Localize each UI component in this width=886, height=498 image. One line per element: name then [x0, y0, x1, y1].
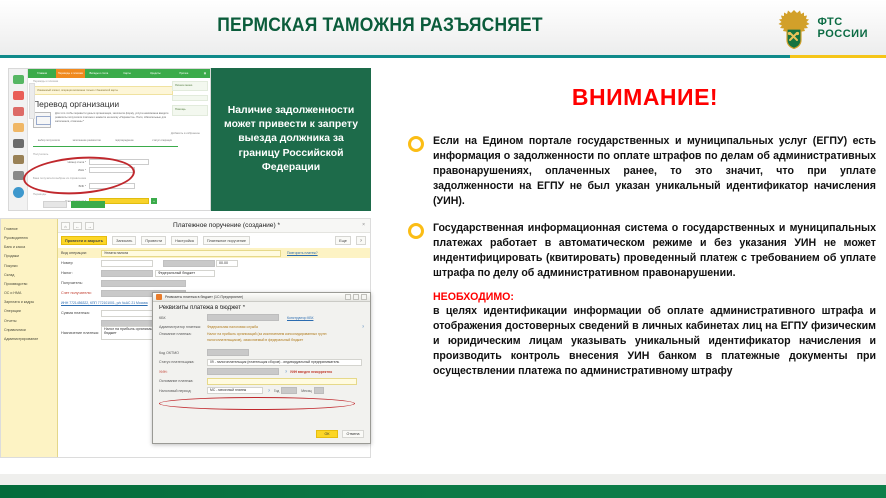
field-label: Описание платежа:: [159, 332, 207, 336]
onec-sidebar[interactable]: Главное Руководителю Банк и касса Продаж…: [1, 219, 58, 458]
recipient-input[interactable]: [101, 280, 186, 287]
operation-type-select[interactable]: Уплата налога: [101, 250, 281, 257]
payer-status-select[interactable]: 09 - налогоплательщик (плательщик сборов…: [207, 359, 362, 366]
russian-coat-of-arms-icon: [776, 9, 812, 49]
icon-rail-item: [13, 139, 24, 148]
onec-titlebar: ⌂ ← → Платежное поручение (создание) * ×: [58, 219, 370, 233]
sidebar-item-payroll[interactable]: Зарплата и кадры: [4, 298, 54, 307]
icon-rail-item: [13, 75, 24, 84]
repeat-payment-link[interactable]: Повторить платеж?: [287, 251, 318, 255]
field-label: Код ОКТМО: [159, 351, 207, 355]
necessary-title: НЕОБХОДИМО:: [433, 291, 876, 303]
month-input[interactable]: [314, 387, 324, 394]
app-icon: [156, 294, 162, 300]
sidebar-item-administration[interactable]: Администрирование: [4, 335, 54, 344]
uin-input[interactable]: [207, 368, 279, 375]
cancel-button[interactable]: Отмена: [342, 430, 364, 438]
field-label: Получатель:: [61, 281, 101, 285]
date-input[interactable]: [163, 260, 215, 267]
more-button[interactable]: Еще: [335, 236, 351, 245]
sidebar-item-fixed-assets[interactable]: ОС и НМА: [4, 289, 54, 298]
tax-input[interactable]: [101, 270, 153, 277]
maximize-icon[interactable]: [353, 294, 359, 300]
sidebar-item-sales[interactable]: Продажи: [4, 252, 54, 261]
dialog-field-basis[interactable]: Основание платежа:: [153, 377, 370, 387]
icon-rail-item: [13, 123, 24, 132]
necessary-block: НЕОБХОДИМО: в целях идентификации информ…: [433, 291, 876, 379]
sidebar-item-credits[interactable]: Кредиты: [141, 69, 169, 78]
field-label: Статус плательщика:: [159, 360, 207, 364]
group-label-recipient: Получатель: [33, 152, 183, 156]
sidebar-item-production[interactable]: Производство: [4, 280, 54, 289]
green-callout-panel: Наличие задолженности может привести к з…: [211, 68, 371, 211]
onec-toolbar[interactable]: Провести и закрыть Записать Провести Нас…: [58, 235, 370, 246]
post-button[interactable]: Провести: [141, 236, 166, 245]
description-value: Налог на прибыль организаций (за исключе…: [207, 332, 357, 344]
warning-icon[interactable]: ?: [285, 370, 287, 374]
sidebar-item-main[interactable]: Главная: [28, 69, 56, 78]
field-label: УИН:: [159, 370, 207, 374]
tax-budget-select[interactable]: Федеральный бюджет: [155, 270, 215, 277]
dialog-field-oktmo[interactable]: Код ОКТМО: [153, 348, 370, 358]
kbk-input[interactable]: [207, 314, 279, 321]
field-operation-type[interactable]: Вид операции: Уплата налога Повторить пл…: [58, 248, 371, 258]
help-icon[interactable]: ?: [362, 325, 370, 329]
fts-logo-line2: РОССИИ: [818, 29, 868, 41]
field-label: Основание платежа:: [159, 379, 207, 383]
necessary-body: в целях идентификации информации об опла…: [433, 304, 876, 379]
dialog-field-kbk[interactable]: КБК Конструктор КБК: [153, 313, 370, 323]
steps-tabs[interactable]: выбор получателя заполнение реквизитов п…: [33, 139, 178, 147]
icon-rail-item: [13, 107, 24, 116]
onec-window-title: Платежное поручение (создание) *: [173, 222, 280, 229]
tab-fill-details[interactable]: заполнение реквизитов: [71, 139, 103, 146]
field-tax[interactable]: Налог: Федеральный бюджет: [58, 268, 371, 278]
sidebar-item-deposits[interactable]: Вклады и счета: [85, 69, 113, 78]
footer-grey-band: [0, 474, 886, 485]
payment-order-print-button[interactable]: Платежное поручение: [203, 236, 250, 245]
sidebar-item-payments[interactable]: Переводы и платежи: [56, 69, 84, 78]
add-icon[interactable]: +: [151, 198, 157, 204]
sidebar-item-manager[interactable]: Руководителю: [4, 234, 54, 243]
minimize-icon[interactable]: [345, 294, 351, 300]
footer-green-band: [0, 485, 886, 498]
list-item: Если на Едином портале государственных и…: [408, 134, 876, 209]
sberbank-description: Для того чтобы перевести деньги организа…: [55, 112, 175, 124]
sidebar-item-purchases[interactable]: Покупки: [4, 262, 54, 271]
bullet-ring-icon: [408, 223, 424, 239]
tax-period-select[interactable]: МС - месячный платеж: [207, 387, 263, 394]
field-label: Сумма платежа:: [61, 311, 101, 315]
slide-header: ПЕРМСКАЯ ТАМОЖНЯ РАЗЪЯСНЯЕТ ФТС РОССИИ: [0, 0, 886, 55]
sidebar-item-warehouse[interactable]: Склад: [4, 271, 54, 280]
help-icon[interactable]: ?: [268, 389, 270, 393]
feedback-tab[interactable]: [29, 83, 35, 119]
sidebar-item-reports[interactable]: Отчеты: [4, 317, 54, 326]
save-button[interactable]: Записать: [112, 236, 136, 245]
dialog-buttons[interactable]: ОК Отмена: [316, 430, 364, 438]
month-label: Месяц: [301, 389, 311, 393]
dialog-field-tax-period[interactable]: Налоговый период: МС - месячный платеж ?…: [153, 386, 370, 396]
field-label: Назначение платежа:: [61, 331, 101, 335]
sidebar-item-cards[interactable]: Карты: [113, 69, 141, 78]
field-label: КБК: [159, 316, 207, 320]
tab-confirm[interactable]: подтверждение: [109, 139, 141, 146]
bullet-list: Если на Едином портале государственных и…: [408, 134, 876, 379]
sberbank-icon-rail: [9, 69, 28, 211]
document-icon: [33, 112, 51, 128]
kbk-constructor-link[interactable]: Конструктор КБК: [287, 316, 313, 320]
green-callout-text: Наличие задолженности может привести к з…: [220, 104, 362, 174]
sberbank-screenshot: Главная Переводы и платежи Вклады и счет…: [8, 68, 211, 211]
personal-menu-title: Личное меню: [175, 84, 192, 87]
personal-menu-panel[interactable]: Личное меню: [172, 81, 208, 91]
sidebar-item-bank-cash[interactable]: Банк и касса: [4, 243, 54, 252]
header-rule-teal: [0, 55, 790, 58]
dialog-field-administrator: Администратор платежа: Федеральная налог…: [153, 323, 370, 333]
close-icon[interactable]: [361, 294, 367, 300]
field-label: Налоговый период:: [159, 389, 207, 393]
sidebar-item-directories[interactable]: Справочники: [4, 326, 54, 335]
close-icon[interactable]: ×: [362, 222, 365, 228]
year-label: Год: [274, 389, 279, 393]
oktmo-input[interactable]: [207, 349, 249, 356]
grid-menu-icon[interactable]: ▦: [198, 69, 211, 78]
header-rule-yellow: [790, 55, 886, 58]
uin-error-text: УИН введен некорректно: [290, 370, 332, 374]
dialog-titlebar-text: Реквизиты платежа в бюджет (1С:Предприят…: [165, 295, 243, 299]
dialog-titlebar: Реквизиты платежа в бюджет (1С:Предприят…: [153, 293, 370, 302]
bullet-text: Если на Едином портале государственных и…: [433, 134, 876, 209]
dialog-field-payer-status[interactable]: Статус плательщика: 09 - налогоплательщи…: [153, 358, 370, 368]
my-finances-panel[interactable]: [172, 95, 208, 101]
basis-input[interactable]: [207, 378, 357, 385]
forward-arrow-icon[interactable]: →: [85, 222, 94, 230]
sberbank-page-title: Перевод организации: [33, 99, 119, 109]
year-input[interactable]: [281, 387, 297, 394]
budget-payment-details-dialog: Реквизиты платежа в бюджет (1С:Предприят…: [152, 292, 371, 444]
post-and-close-button[interactable]: Провести и закрыть: [61, 236, 107, 245]
ok-button[interactable]: ОК: [316, 430, 338, 438]
field-label: Налог:: [61, 271, 101, 275]
continue-button[interactable]: [71, 201, 105, 208]
administrator-value: Федеральная налоговая служба: [207, 325, 258, 329]
sidebar-item-main[interactable]: Главное: [4, 225, 54, 234]
field-label: Счет получателя:: [61, 291, 101, 295]
icon-rail-item: [13, 171, 24, 180]
number-input[interactable]: [101, 260, 153, 267]
alert-banner: Уважаемый клиент, операция возможна толь…: [33, 86, 173, 95]
icon-rail-item: [13, 187, 24, 198]
red-ellipse-highlight: [159, 397, 355, 410]
icon-rail-item: [13, 155, 24, 164]
field-number[interactable]: Номер 00.00: [58, 258, 371, 268]
bullet-ring-icon: [408, 136, 424, 152]
fts-logo: ФТС РОССИИ: [776, 8, 868, 50]
help-icon[interactable]: ?: [356, 236, 366, 245]
settings-button[interactable]: Настройка: [171, 236, 198, 245]
field-label: Номер: [61, 261, 101, 265]
attention-heading: ВНИМАНИЕ!: [430, 84, 860, 111]
dialog-title: Реквизиты платежа в бюджет *: [153, 302, 370, 313]
bank-details-link[interactable]: ИНН 7721456322, КПП 772101001, р/с №АС 2…: [61, 301, 148, 305]
dialog-field-uin[interactable]: УИН: ? УИН введен некорректно: [153, 367, 370, 377]
time-input[interactable]: 00.00: [216, 260, 238, 267]
bullet-text: Государственная информационная система о…: [433, 221, 876, 281]
list-item: Государственная информационная система о…: [408, 221, 876, 281]
dialog-field-description: Описание платежа: Налог на прибыль орган…: [153, 332, 370, 348]
field-label: Вид операции:: [61, 251, 101, 255]
back-arrow-icon[interactable]: ←: [73, 222, 82, 230]
page-title: ПЕРМСКАЯ ТАМОЖНЯ РАЗЪЯСНЯЕТ: [30, 15, 729, 37]
sberbank-right-panel: Личное меню Помощь: [172, 81, 208, 201]
sidebar-item-operations[interactable]: Операции: [4, 307, 54, 316]
cancel-button[interactable]: [43, 201, 67, 208]
tab-select-recipient[interactable]: выбор получателя: [33, 139, 65, 146]
breadcrumb: Переводы и платежи: [33, 80, 58, 83]
field-label: Администратор платежа:: [159, 325, 207, 329]
help-title: Помощь: [175, 108, 186, 111]
sidebar-item-other[interactable]: Прочее: [170, 69, 198, 78]
home-icon[interactable]: ⌂: [61, 222, 70, 230]
icon-rail-item: [13, 91, 24, 100]
sberbank-nav[interactable]: Главная Переводы и платежи Вклады и счет…: [28, 69, 211, 78]
fts-logo-text: ФТС РОССИИ: [818, 17, 868, 40]
field-recipient[interactable]: Получатель:: [58, 278, 371, 288]
window-buttons[interactable]: [345, 294, 370, 300]
help-panel[interactable]: Помощь: [172, 105, 208, 115]
